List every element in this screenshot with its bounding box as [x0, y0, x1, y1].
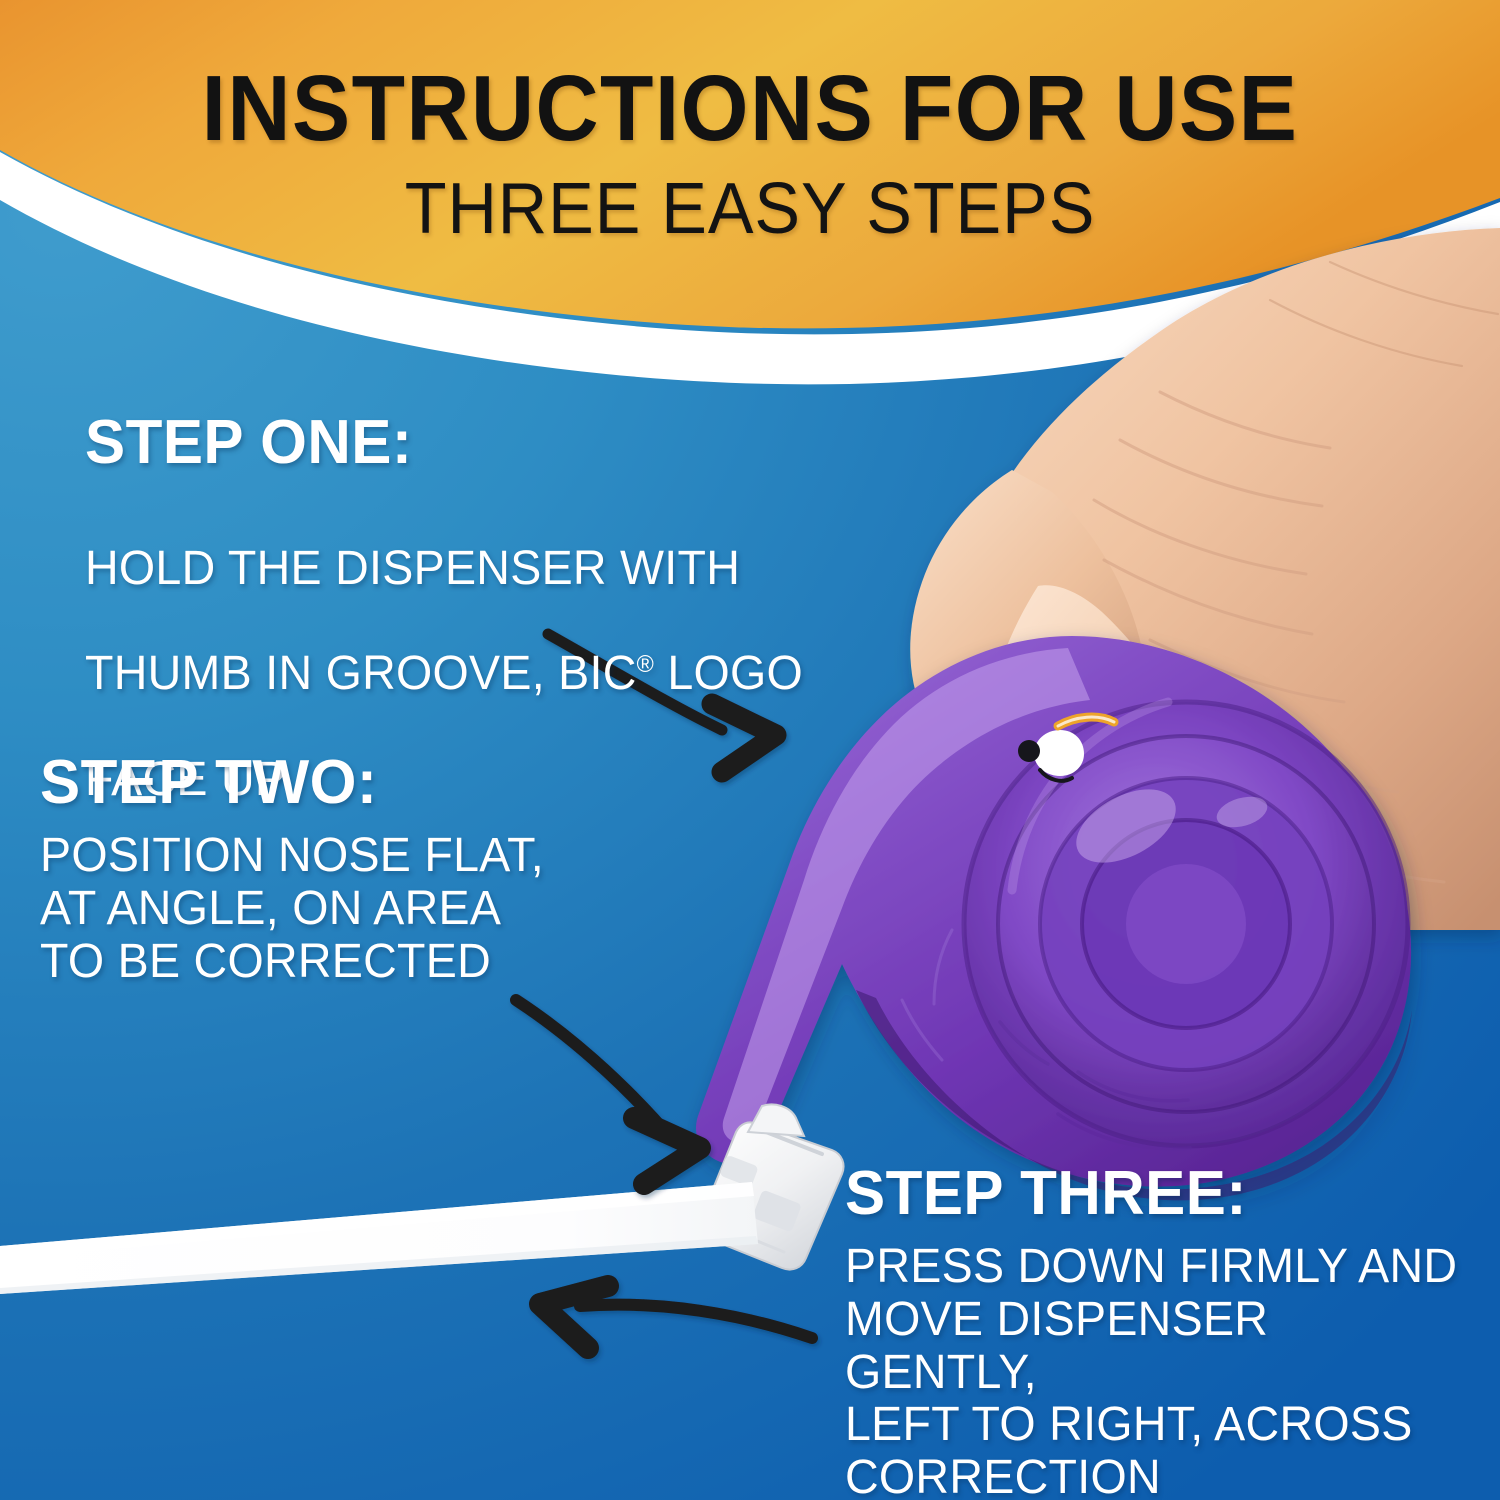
- registered-trademark-icon: ®: [637, 651, 654, 678]
- step-one-heading: STEP ONE:: [85, 412, 861, 474]
- step-two-heading: STEP TWO:: [40, 752, 661, 814]
- curved-arrow-down-right-icon: [516, 1000, 700, 1184]
- step-one-line-2-post: LOGO: [654, 647, 803, 700]
- step-one-line-1: HOLD THE DISPENSER WITH: [85, 542, 740, 595]
- curved-arrow-left-icon: [540, 1286, 812, 1348]
- correction-tape-band: [0, 1182, 758, 1294]
- step-three-heading: STEP THREE:: [845, 1163, 1466, 1225]
- instructions-poster: INSTRUCTIONS FOR USE THREE EASY STEPS ST…: [0, 0, 1500, 1500]
- step-three-body: PRESS DOWN FIRMLY AND MOVE DISPENSER GEN…: [845, 1241, 1466, 1500]
- step-three-block: STEP THREE: PRESS DOWN FIRMLY AND MOVE D…: [845, 1163, 1485, 1500]
- step-two-block: STEP TWO: POSITION NOSE FLAT, AT ANGLE, …: [40, 752, 680, 988]
- step-two-body: POSITION NOSE FLAT, AT ANGLE, ON AREA TO…: [40, 830, 661, 988]
- step-one-line-2-pre: THUMB IN GROOVE, BIC: [85, 647, 637, 700]
